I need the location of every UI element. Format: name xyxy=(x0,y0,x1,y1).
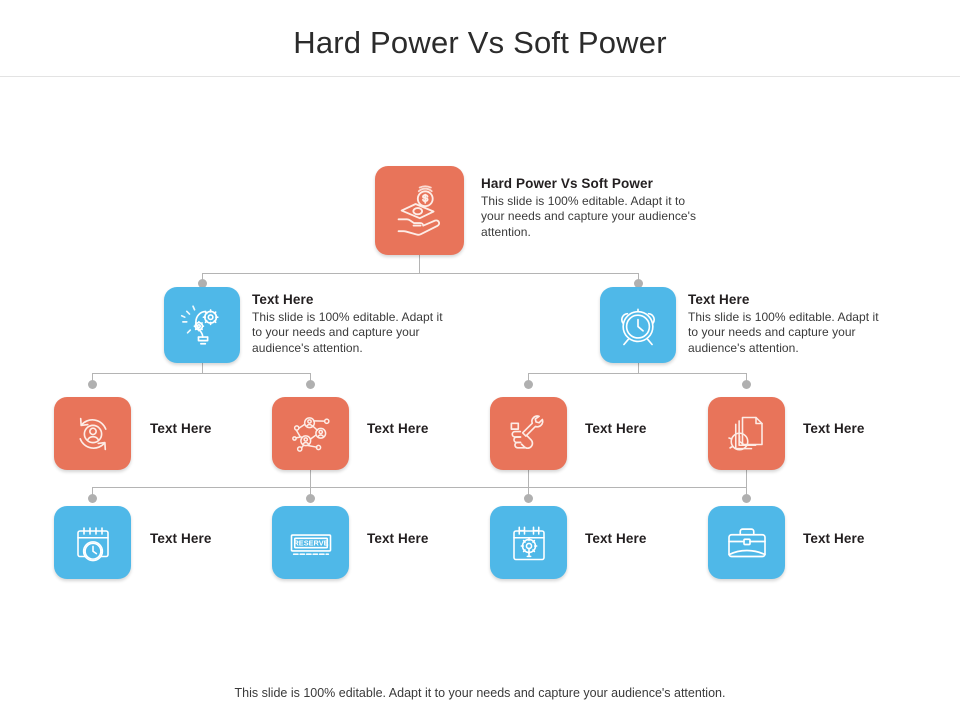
node-level2-right-body: This slide is 100% editable. Adapt it to… xyxy=(688,310,888,356)
node-level3-3-label: Text Here xyxy=(585,420,695,438)
connector-l3-stem-2 xyxy=(310,470,311,487)
lightbulb-gears-icon xyxy=(177,300,227,350)
node-level3-4-label: Text Here xyxy=(803,420,913,438)
connector-l2right-rail xyxy=(528,373,746,374)
node-root-text: Hard Power Vs Soft Power This slide is 1… xyxy=(481,176,696,240)
connector-l3-stem-4 xyxy=(746,470,747,487)
node-level3-1-tile[interactable] xyxy=(54,397,131,470)
reserve-stamp-text: RESERVE xyxy=(293,538,328,547)
page-title: Hard Power Vs Soft Power xyxy=(0,24,960,62)
connector-dot-level3-3 xyxy=(524,380,533,389)
connector-l2left-rail xyxy=(92,373,310,374)
documents-clock-icon xyxy=(723,410,771,458)
node-level2-left-body: This slide is 100% editable. Adapt it to… xyxy=(252,310,452,356)
connector-root-stem xyxy=(419,252,420,274)
connector-dot-level3-1 xyxy=(88,380,97,389)
connector-l2right-stem xyxy=(638,362,639,373)
node-level3-2-label: Text Here xyxy=(367,420,477,438)
node-level3-3-tile[interactable] xyxy=(490,397,567,470)
footer-note: This slide is 100% editable. Adapt it to… xyxy=(0,685,960,702)
node-level3-1-label: Text Here xyxy=(150,420,260,438)
node-level4-3-label: Text Here xyxy=(585,530,695,548)
node-level4-4-label: Text Here xyxy=(803,530,913,548)
node-level2-right-tile[interactable] xyxy=(600,287,676,363)
connector-dot-level4-4 xyxy=(742,494,751,503)
node-level4-2-label: Text Here xyxy=(367,530,477,548)
node-level2-right-text: Text Here This slide is 100% editable. A… xyxy=(688,292,888,356)
connector-root-rail xyxy=(202,273,638,274)
node-level2-left-heading: Text Here xyxy=(252,292,452,308)
briefcase-icon xyxy=(723,519,771,567)
connector-dot-level4-2 xyxy=(306,494,315,503)
node-level2-left-tile[interactable] xyxy=(164,287,240,363)
node-level3-2-tile[interactable] xyxy=(272,397,349,470)
node-level2-right-heading: Text Here xyxy=(688,292,888,308)
calendar-clock-icon xyxy=(69,519,117,567)
connector-l2left-stem xyxy=(202,362,203,373)
node-root-tile[interactable] xyxy=(375,166,464,255)
connector-dot-level3-4 xyxy=(742,380,751,389)
node-root-body: This slide is 100% editable. Adapt it to… xyxy=(481,194,696,240)
node-level4-4-tile[interactable] xyxy=(708,506,785,579)
node-root-heading: Hard Power Vs Soft Power xyxy=(481,176,696,192)
node-level3-4-tile[interactable] xyxy=(708,397,785,470)
people-network-icon xyxy=(287,410,335,458)
reserve-stamp-icon: RESERVE xyxy=(285,517,337,569)
alarm-clock-icon xyxy=(613,300,663,350)
calendar-gear-wrench-icon xyxy=(505,519,553,567)
hand-holding-money-icon xyxy=(392,183,448,239)
hand-wrench-icon xyxy=(505,410,553,458)
user-refresh-cycle-icon xyxy=(69,410,117,458)
node-level4-1-tile[interactable] xyxy=(54,506,131,579)
node-level2-left-text: Text Here This slide is 100% editable. A… xyxy=(252,292,452,356)
slide-canvas: Hard Power Vs Soft Power xyxy=(0,0,960,720)
connector-dot-level4-1 xyxy=(88,494,97,503)
node-level4-1-label: Text Here xyxy=(150,530,260,548)
connector-dot-level4-3 xyxy=(524,494,533,503)
node-level4-2-tile[interactable]: RESERVE xyxy=(272,506,349,579)
connector-l3-rail xyxy=(92,487,746,488)
connector-l3-stem-3 xyxy=(528,470,529,487)
node-level4-3-tile[interactable] xyxy=(490,506,567,579)
connector-dot-level3-2 xyxy=(306,380,315,389)
